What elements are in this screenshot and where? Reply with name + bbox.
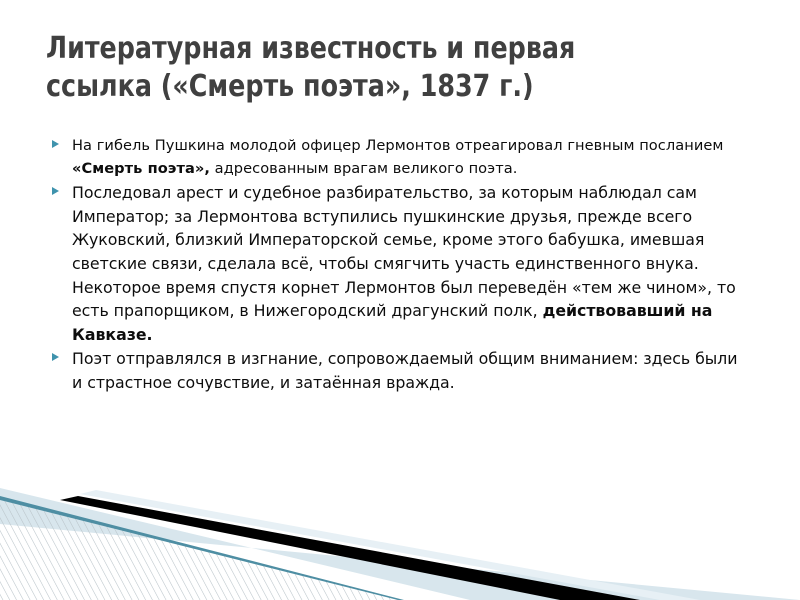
triangle-bullet-icon — [52, 140, 59, 148]
list-item: Поэт отправлялся в изгнание, сопровождае… — [50, 347, 750, 394]
slide-canvas: Литературная известность и первая ссылка… — [0, 0, 800, 600]
plain-text: адресованным врагам великого поэта. — [210, 160, 517, 177]
decor-black-wedge — [60, 496, 640, 600]
plain-text: Поэт отправлялся в изгнание, сопровождае… — [72, 349, 737, 392]
list-item-text: Последовал арест и судебное разбирательс… — [72, 181, 750, 346]
page-title-line-2: ссылка («Смерть поэта», 1837 г.) — [46, 68, 723, 106]
page-title-line-1: Литературная известность и первая — [46, 30, 723, 68]
list-item: На гибель Пушкина молодой офицер Лермонт… — [50, 135, 750, 180]
list-item-text: На гибель Пушкина молодой офицер Лермонт… — [72, 135, 750, 180]
decor-pale-band — [0, 488, 800, 600]
decor-hatch-triangle — [0, 498, 400, 600]
page-title: Литературная известность и первая ссылка… — [46, 30, 723, 106]
emphasis-text: «Смерть поэта», — [72, 160, 210, 177]
bullet-list: На гибель Пушкина молодой офицер Лермонт… — [50, 135, 750, 396]
plain-text: На гибель Пушкина молодой офицер Лермонт… — [72, 137, 723, 154]
decor-outline-stripe — [0, 496, 404, 600]
triangle-bullet-icon — [52, 353, 59, 361]
list-item-text: Поэт отправлялся в изгнание, сопровождае… — [72, 347, 750, 394]
plain-text: Последовал арест и судебное разбирательс… — [72, 183, 736, 320]
triangle-bullet-icon — [52, 187, 59, 195]
corner-decoration-graphic — [0, 480, 800, 600]
decor-highlight-sliver — [80, 490, 700, 600]
list-item: Последовал арест и судебное разбирательс… — [50, 181, 750, 346]
